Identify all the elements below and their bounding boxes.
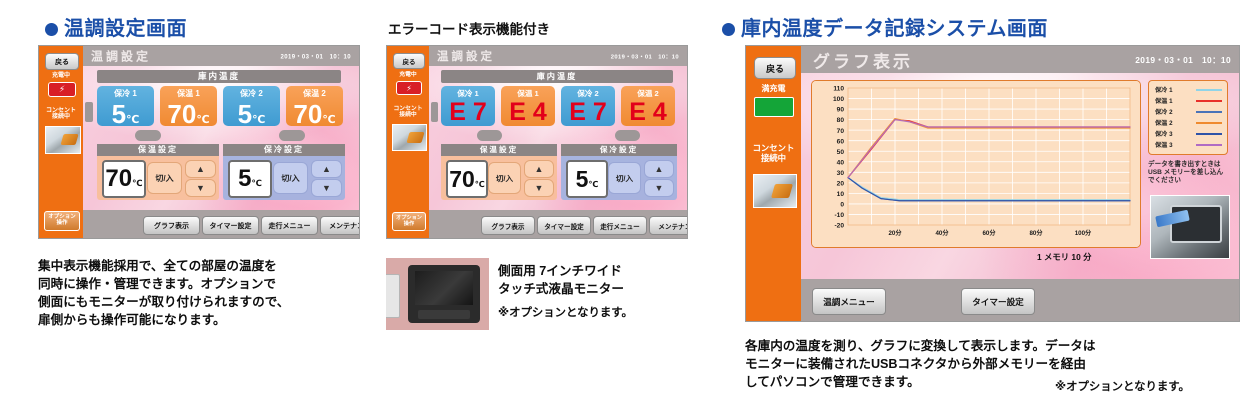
panel3-button-bar: 温調メニュー タイマー設定: [801, 279, 1239, 321]
page-root: 温調設定画面 エラーコード表示機能付き 庫内温度データ記録システム画面 戻る 充…: [0, 0, 1240, 400]
svg-text:80分: 80分: [1029, 229, 1043, 237]
heading-panel2: エラーコード表示機能付き: [388, 18, 550, 38]
screen-datetime: 2019・03・01 10：10: [281, 52, 351, 61]
svg-text:20: 20: [837, 180, 845, 187]
monitor-caption-line1: 側面用 7インチワイド: [498, 262, 688, 280]
graph-display-button[interactable]: グラフ表示: [143, 216, 200, 235]
timer-setting-button[interactable]: タイマー設定: [537, 216, 591, 235]
legend-swatch: [1196, 133, 1222, 135]
svg-text:-10: -10: [834, 212, 844, 219]
cool-value-display: 5℃: [566, 160, 608, 198]
svg-text:60: 60: [837, 138, 845, 145]
outlet-plug-photo: [753, 174, 797, 208]
bolt-icon: ⚡: [396, 81, 422, 95]
screen-title: グラフ表示: [813, 47, 913, 72]
tile-label: 保温 2: [286, 88, 343, 99]
monitor-bracket: [386, 274, 400, 318]
screen-datetime: 2019・03・01 10：10: [1135, 54, 1231, 66]
maintenance-button[interactable]: メンテナンス: [649, 216, 688, 235]
chart-gridlines: [848, 88, 1130, 225]
legend-item-1: 保温 1: [1155, 96, 1222, 105]
svg-text:110: 110: [833, 86, 844, 93]
charge-status-label: 充電中: [387, 72, 429, 78]
legend-item-2: 保冷 2: [1155, 107, 1222, 116]
timer-setting-button[interactable]: タイマー設定: [202, 216, 259, 235]
tile-label: 保冷 1: [97, 88, 154, 99]
screen-datetime: 2019・03・01 10：10: [611, 52, 679, 61]
warm-setting-header: 保温設定: [97, 144, 219, 156]
maintenance-button[interactable]: メンテナンス: [320, 216, 360, 235]
error-tile-warm-1[interactable]: 保温 1 E 4: [501, 86, 555, 126]
driving-menu-button[interactable]: 走行メニュー: [593, 216, 647, 235]
monitor-screen: [415, 271, 473, 305]
temp-tile-warm-2[interactable]: 保温 2 70℃: [286, 86, 343, 126]
heading-panel3: 庫内温度データ記録システム画面: [722, 12, 1048, 41]
monitor-caption-line2: タッチ式液晶モニター: [498, 280, 688, 298]
warm-value-display: 70℃: [102, 160, 146, 198]
heading-panel1: 温調設定画面: [45, 12, 187, 41]
battery-full-icon: [754, 97, 794, 117]
caption-left: 集中表示機能採用で、全ての部屋の温度を 同時に操作・管理できます。オプションで …: [38, 258, 368, 330]
warm-setting-panel: 保温設定 70℃ 切/入 ▲ ▼: [441, 144, 557, 200]
legend-swatch: [1196, 111, 1222, 113]
temp-tile-warm-1[interactable]: 保温 1 70℃: [160, 86, 217, 126]
timer-setting-button[interactable]: タイマー設定: [961, 288, 1035, 315]
screen-title: 温調設定: [437, 48, 495, 64]
svg-text:100分: 100分: [1075, 229, 1092, 237]
cool-setting-header: 保冷設定: [561, 144, 677, 156]
cool-up-button[interactable]: ▲: [311, 160, 342, 178]
monitor-caption: 側面用 7インチワイド タッチ式液晶モニター ※オプションとなります。: [498, 262, 688, 320]
svg-text:20分: 20分: [888, 229, 902, 237]
temp-menu-button[interactable]: 温調メニュー: [812, 288, 886, 315]
outlet-status-label: コンセント 接続中: [746, 144, 801, 163]
bolt-icon: ⚡: [48, 82, 76, 97]
cool-value-display: 5℃: [228, 160, 272, 198]
cool-down-button[interactable]: ▼: [644, 179, 674, 197]
panel1-body: 庫内温度 保冷 1 5℃ 保温 1 70℃ 保冷 2 5℃ 保温 2 70℃ 保…: [83, 66, 359, 210]
legend-item-3: 保温 2: [1155, 118, 1222, 127]
warm-down-button[interactable]: ▼: [524, 179, 554, 197]
tile-value: 70℃: [160, 101, 217, 126]
tile-error-code: E 4: [621, 100, 675, 125]
panel1-topbar: 温調設定 2019・03・01 10：10: [83, 46, 359, 66]
svg-text:-20: -20: [834, 223, 844, 230]
tile-value: 5℃: [223, 101, 280, 126]
svg-text:80: 80: [837, 117, 845, 124]
cool-down-button[interactable]: ▼: [311, 179, 342, 197]
panel3-topbar: グラフ表示 2019・03・01 10：10: [801, 46, 1239, 73]
panel2-sidebar: 戻る 充電中 ⚡ コンセント 接続中 オプション 操作: [387, 46, 429, 238]
tile-label: 保温 1: [160, 88, 217, 99]
panel2-topbar: 温調設定 2019・03・01 10：10: [429, 46, 687, 66]
tile-value: 70℃: [286, 101, 343, 126]
knob-decor: [135, 130, 161, 141]
cool-setting-header: 保冷設定: [223, 144, 345, 156]
bullet-icon: [722, 23, 735, 36]
knob-decor: [279, 130, 305, 141]
error-tile-cool-2[interactable]: 保冷 2 E 7: [561, 86, 615, 126]
knob-decor: [615, 130, 640, 141]
outlet-plug-photo: [45, 126, 81, 154]
monitor-screen: [1170, 205, 1222, 244]
legend-swatch: [1196, 89, 1222, 91]
outlet-plug-photo: [392, 124, 427, 151]
warm-onoff-button[interactable]: 切/入: [147, 162, 182, 194]
outlet-status-label: コンセント 接続中: [39, 108, 83, 121]
back-button[interactable]: 戻る: [754, 57, 796, 79]
outlet-status-label: コンセント 接続中: [387, 106, 429, 118]
warm-setting-header: 保温設定: [441, 144, 557, 156]
warm-up-button[interactable]: ▲: [185, 160, 216, 178]
legend-item-5: 保温 3: [1155, 140, 1222, 149]
svg-text:10: 10: [837, 191, 845, 198]
error-tile-warm-2[interactable]: 保温 2 E 4: [621, 86, 675, 126]
inside-temp-header: 庫内温度: [441, 70, 673, 83]
temperature-chart: 1101009080706050403020100-10-20 20分40分60…: [811, 80, 1141, 248]
screen-title: 温調設定: [91, 48, 151, 65]
svg-text:90: 90: [837, 107, 845, 114]
graph-display-button[interactable]: グラフ表示: [481, 216, 535, 235]
side-monitor-photo: [386, 258, 489, 330]
panel2-button-bar: グラフ表示 タイマー設定 走行メニュー メンテナンス: [429, 210, 687, 238]
warm-up-button[interactable]: ▲: [524, 160, 554, 178]
panel1-screen: 戻る 充電中 ⚡ コンセント 接続中 オプション 操作 温調設定 2019・03…: [38, 45, 360, 239]
tile-error-code: E 7: [561, 100, 615, 125]
back-button[interactable]: 戻る: [45, 53, 79, 70]
svg-text:60分: 60分: [982, 229, 996, 237]
rail-tab: [431, 102, 438, 122]
svg-text:30: 30: [837, 170, 845, 177]
cool-onoff-button[interactable]: 切/入: [273, 162, 308, 194]
panel3-body: 1101009080706050403020100-10-20 20分40分60…: [801, 73, 1239, 279]
bullet-icon: [45, 23, 58, 36]
charge-status-label: 満充電: [746, 85, 801, 93]
svg-text:40分: 40分: [935, 229, 949, 237]
svg-text:100: 100: [833, 96, 844, 103]
svg-text:70: 70: [837, 128, 845, 135]
tile-error-code: E 7: [441, 100, 495, 125]
usb-insert-photo: [1150, 195, 1230, 259]
legend-item-0: 保冷 1: [1155, 85, 1222, 94]
monitor-body: [408, 265, 480, 323]
legend-item-4: 保冷 3: [1155, 129, 1222, 138]
warm-value-display: 70℃: [446, 160, 488, 198]
panel3-screen: 戻る 満充電 コンセント 接続中 グラフ表示 2019・03・01 10：10 …: [745, 45, 1240, 322]
cool-setting-panel: 保冷設定 5℃ 切/入 ▲ ▼: [223, 144, 345, 200]
back-button[interactable]: 戻る: [393, 53, 425, 69]
rail-tab: [85, 102, 93, 122]
panel2-screen: 戻る 充電中 ⚡ コンセント 接続中 オプション 操作 温調設定 2019・03…: [386, 45, 688, 239]
panel1-button-bar: グラフ表示 タイマー設定 走行メニュー メンテナンス: [83, 210, 359, 238]
svg-text:0: 0: [840, 202, 844, 209]
legend-swatch: [1196, 100, 1222, 102]
chart-svg: 1101009080706050403020100-10-20 20分40分60…: [812, 81, 1140, 247]
temp-tile-cool-1[interactable]: 保冷 1 5℃: [97, 86, 154, 126]
tile-value: 5℃: [97, 101, 154, 126]
memory-scale-note: 1 メモリ 10 分: [1037, 251, 1091, 263]
cool-onoff-button[interactable]: 切/入: [608, 162, 641, 194]
panel2-body: 庫内温度 保冷 1 E 7 保温 1 E 4 保冷 2 E 7 保温 2 E 4…: [429, 66, 687, 210]
option-operation-button[interactable]: オプション 操作: [44, 211, 80, 231]
legend-swatch: [1196, 144, 1222, 146]
error-tile-cool-1[interactable]: 保冷 1 E 7: [441, 86, 495, 126]
tile-label: 保冷 2: [223, 88, 280, 99]
inside-temp-header: 庫内温度: [97, 70, 341, 83]
chart-legend: 保冷 1 保温 1 保冷 2 保温 2 保冷 3 保温 3: [1148, 80, 1228, 155]
knob-decor: [477, 130, 502, 141]
tile-error-code: E 4: [501, 100, 555, 125]
svg-text:50: 50: [837, 149, 845, 156]
warm-setting-panel: 保温設定 70℃ 切/入 ▲ ▼: [97, 144, 219, 200]
panel3-sidebar: 戻る 満充電 コンセント 接続中: [746, 46, 801, 321]
monitor-control-strip: [418, 310, 470, 319]
driving-menu-button[interactable]: 走行メニュー: [261, 216, 318, 235]
temp-tile-cool-2[interactable]: 保冷 2 5℃: [223, 86, 280, 126]
warm-onoff-button[interactable]: 切/入: [488, 162, 521, 194]
caption-right-note: ※オプションとなります。: [1055, 378, 1190, 394]
legend-swatch: [1196, 122, 1222, 124]
warm-down-button[interactable]: ▼: [185, 179, 216, 197]
cool-up-button[interactable]: ▲: [644, 160, 674, 178]
panel1-sidebar: 戻る 充電中 ⚡ コンセント 接続中 オプション 操作: [39, 46, 83, 238]
svg-text:40: 40: [837, 159, 845, 166]
monitor-caption-note: ※オプションとなります。: [498, 304, 688, 320]
cool-setting-panel: 保冷設定 5℃ 切/入 ▲ ▼: [561, 144, 677, 200]
option-operation-button[interactable]: オプション 操作: [392, 212, 426, 231]
usb-instruction-note: データを書き出すときは USB メモリーを差し込ん でください: [1148, 161, 1232, 186]
charge-status-label: 充電中: [39, 73, 83, 79]
